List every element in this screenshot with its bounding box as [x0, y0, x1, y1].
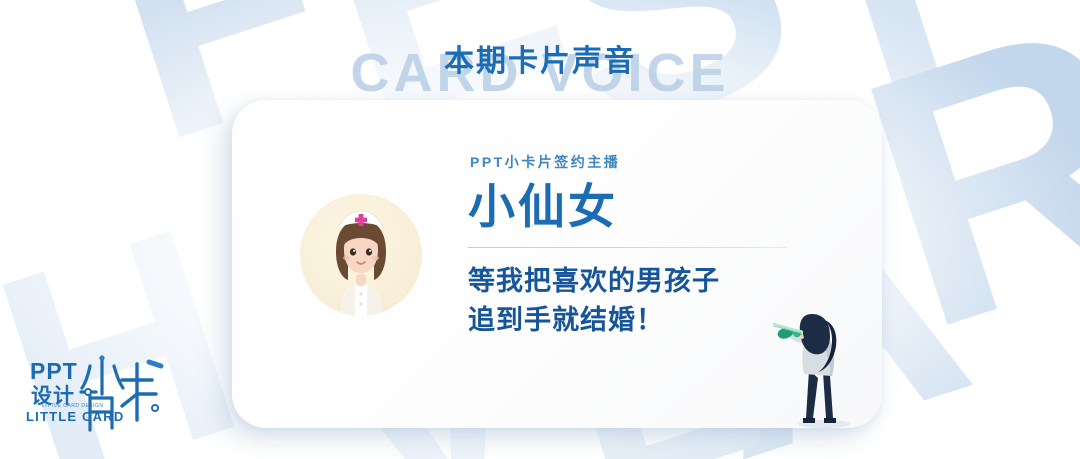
- logo-little-card-text: LITTLE CARD: [26, 409, 124, 424]
- avatar-circle: [300, 194, 422, 316]
- violinist-figure: [768, 300, 878, 430]
- brand-logo: PPT 设计 LITTLE CARD DESIGN LITTLE CARD: [18, 336, 178, 440]
- quote-line-1: 等我把喜欢的男孩子: [468, 262, 804, 300]
- role-label: PPT小卡片签约主播: [470, 152, 804, 172]
- quote-line-2: 追到手就结婚！: [468, 301, 804, 339]
- slide-canvas: F E S T R A L V H CARD VOICE 本期卡片声音: [0, 0, 1080, 459]
- header: CARD VOICE 本期卡片声音: [0, 36, 1080, 80]
- nurse-illustration-icon: [300, 194, 422, 316]
- page-title: 本期卡片声音: [444, 36, 636, 80]
- anchor-name: 小仙女: [468, 184, 804, 233]
- violinist-icon: [768, 300, 878, 430]
- divider: [468, 247, 786, 248]
- avatar: [300, 194, 422, 316]
- quote-text: 等我把喜欢的男孩子 追到手就结婚！: [468, 262, 804, 339]
- card-info: PPT小卡片签约主播 小仙女 等我把喜欢的男孩子 追到手就结婚！: [468, 152, 804, 339]
